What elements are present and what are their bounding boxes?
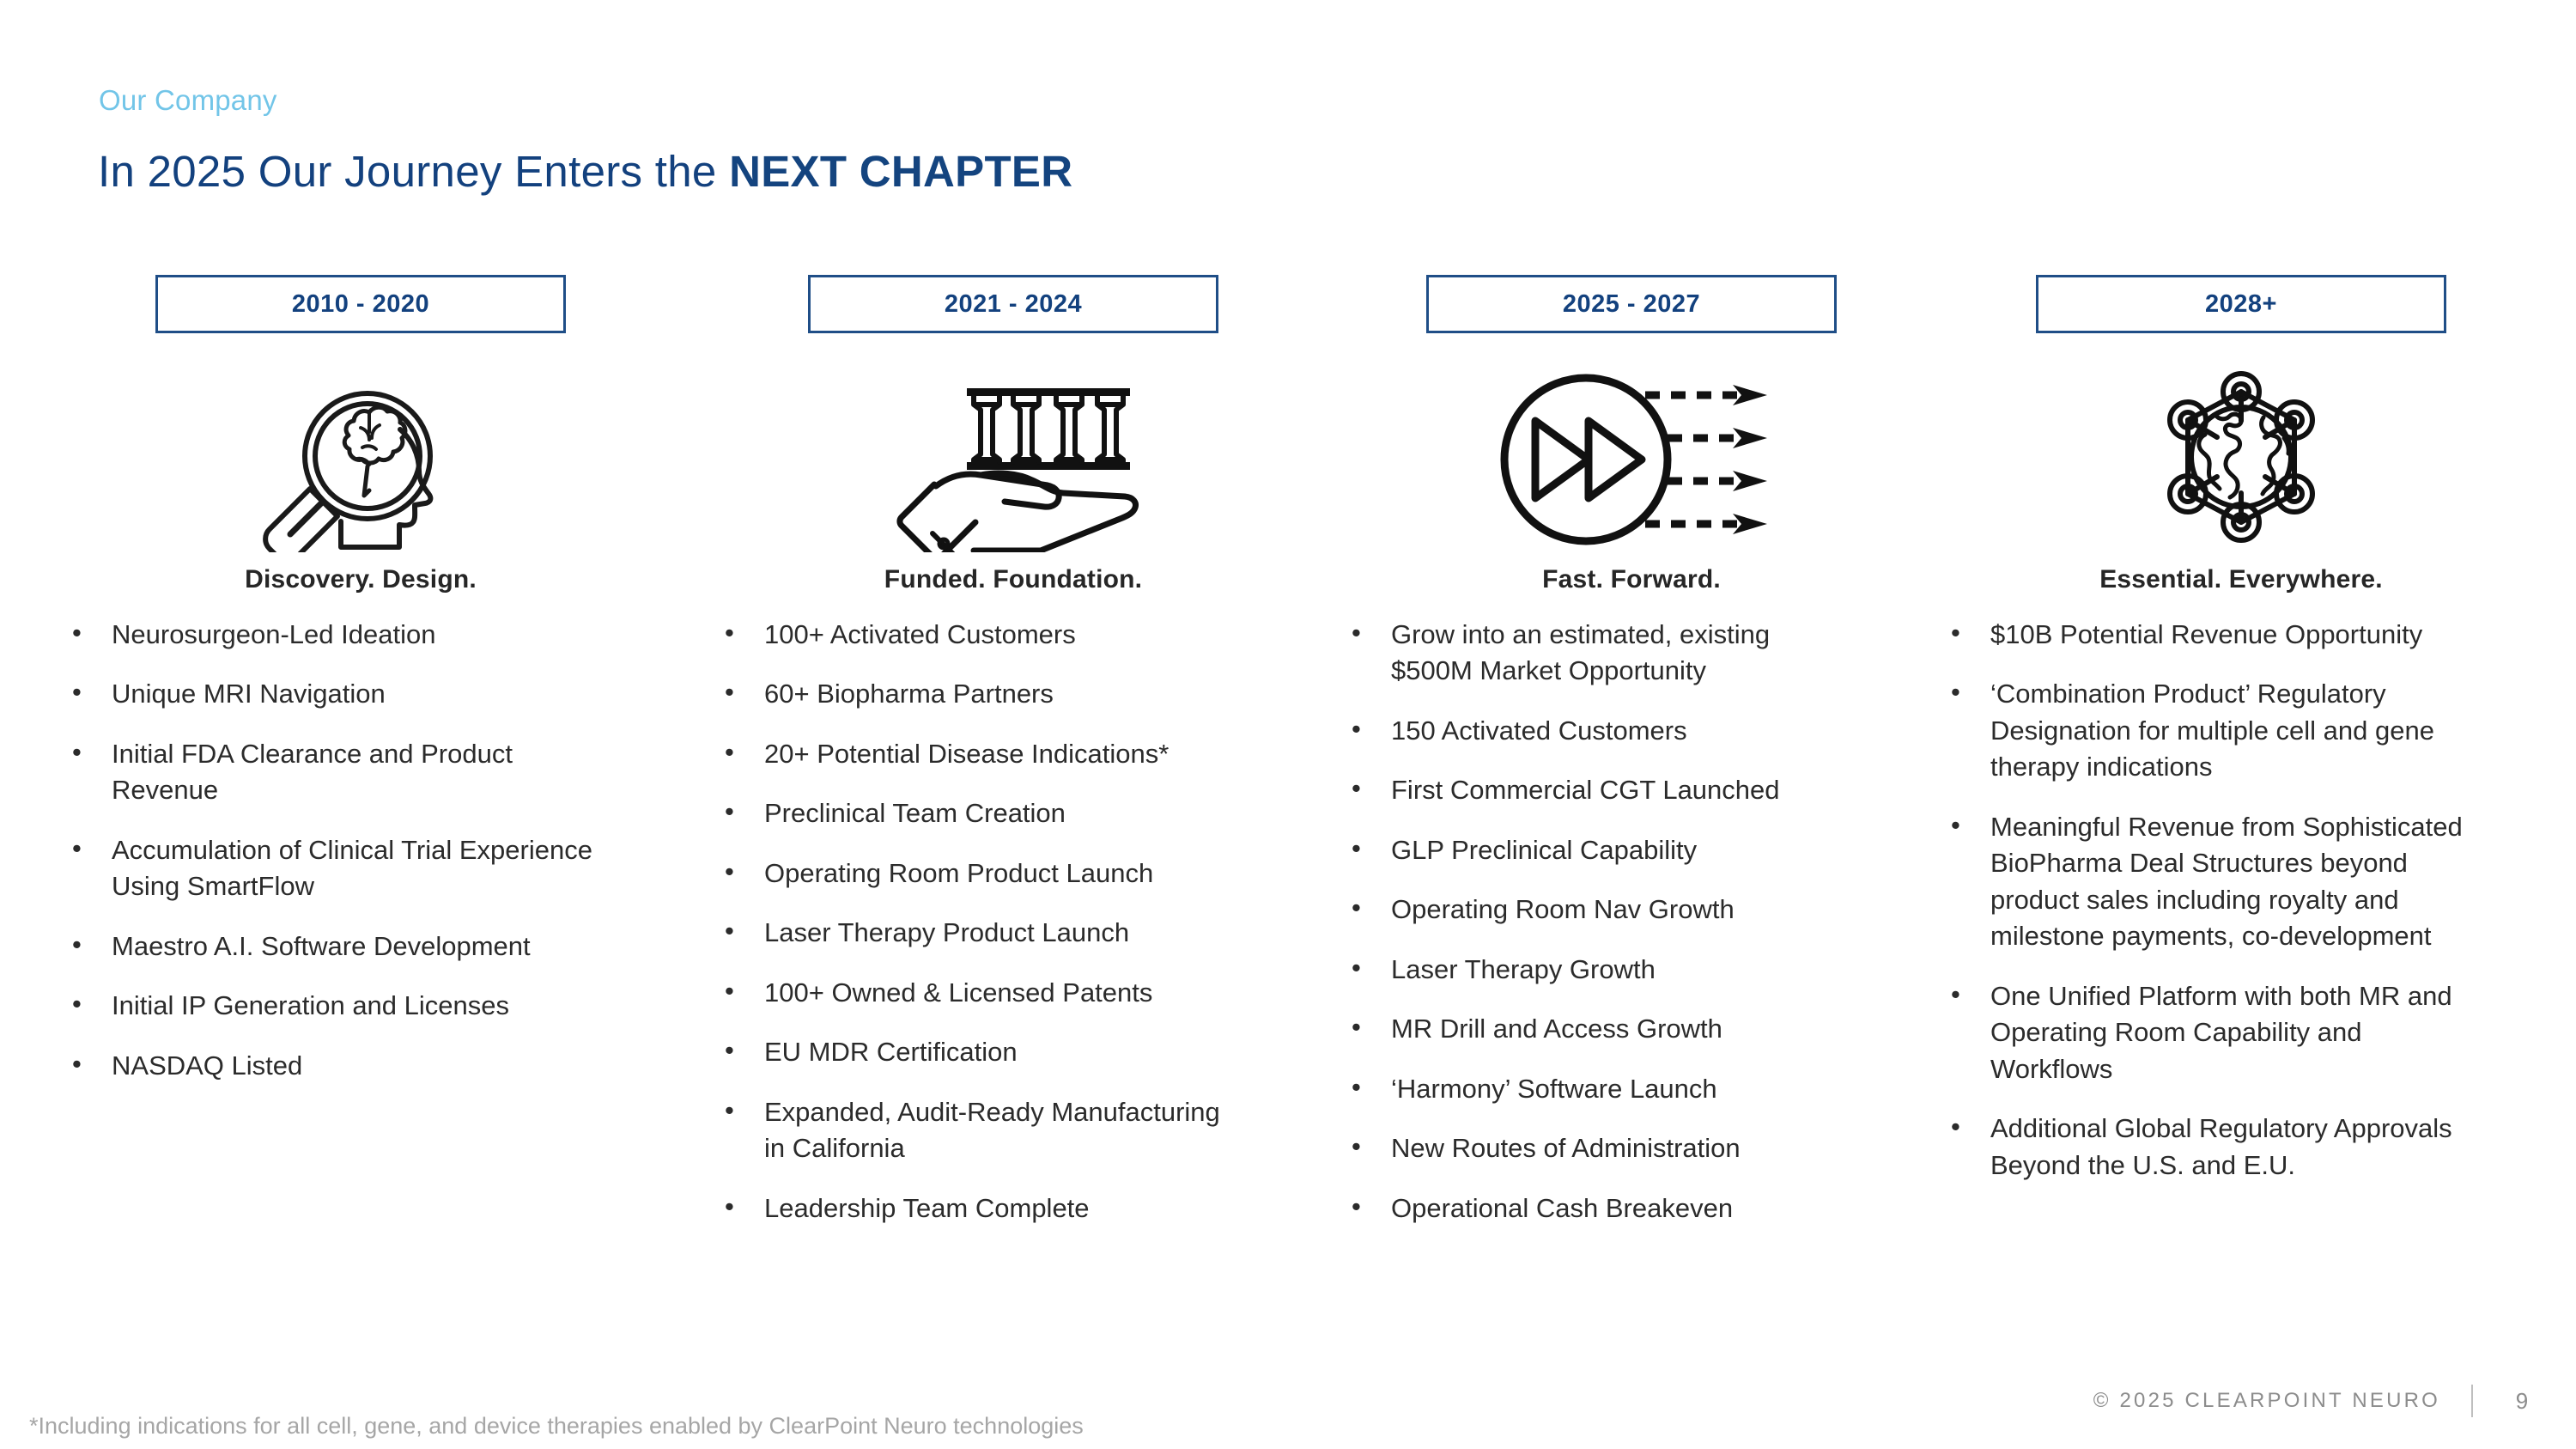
list-item: Expanded, Audit-Ready Manufacturing in C… <box>713 1094 1245 1167</box>
page-number: 9 <box>2509 1388 2535 1415</box>
timeline-column-2010-2020: 2010 - 2020 Discovery. Design. Neurosur <box>52 275 670 1107</box>
list-item: EU MDR Certification <box>713 1034 1245 1070</box>
era-box: 2028+ <box>2036 275 2446 333</box>
list-item: MR Drill and Access Growth <box>1340 1011 1838 1047</box>
list-item: Initial FDA Clearance and Product Revenu… <box>60 736 618 809</box>
list-item: 100+ Owned & Licensed Patents <box>713 975 1245 1011</box>
list-item: Laser Therapy Product Launch <box>713 915 1245 951</box>
era-label: 2028+ <box>2205 290 2277 319</box>
era-label: 2021 - 2024 <box>945 290 1082 319</box>
list-item: GLP Preclinical Capability <box>1340 832 1838 868</box>
global-network-globe-icon <box>1932 361 2550 558</box>
bullet-list: $10B Potential Revenue Opportunity ‘Comb… <box>1939 617 2488 1184</box>
page-title: In 2025 Our Journey Enters the NEXT CHAP… <box>98 146 1072 197</box>
eyebrow-label: Our Company <box>99 84 277 117</box>
page-title-emphasis: NEXT CHAPTER <box>729 147 1072 196</box>
list-item: One Unified Platform with both MR and Op… <box>1939 978 2488 1087</box>
list-item: Accumulation of Clinical Trial Experienc… <box>60 832 618 905</box>
era-box: 2021 - 2024 <box>808 275 1218 333</box>
bullet-list: 100+ Activated Customers 60+ Biopharma P… <box>713 617 1245 1227</box>
magnifier-brain-head-icon <box>52 361 670 558</box>
list-item: ‘Combination Product’ Regulatory Designa… <box>1939 676 2488 785</box>
tagline: Discovery. Design. <box>52 565 670 594</box>
timeline-column-2028-plus: 2028+ <box>1932 275 2550 1207</box>
list-item: 150 Activated Customers <box>1340 713 1838 749</box>
list-item: 60+ Biopharma Partners <box>713 676 1245 712</box>
list-item: New Routes of Administration <box>1340 1130 1838 1166</box>
list-item: NASDAQ Listed <box>60 1048 618 1084</box>
timeline-column-2021-2024: 2021 - 2024 <box>704 275 1322 1250</box>
list-item: Operating Room Product Launch <box>713 855 1245 892</box>
list-item: Laser Therapy Growth <box>1340 952 1838 988</box>
footer-meta: © 2025 CLEARPOINT NEURO 9 <box>2093 1385 2535 1417</box>
timeline-columns: 2010 - 2020 Discovery. Design. Neurosur <box>0 275 2576 1314</box>
footnote: *Including indications for all cell, gen… <box>29 1413 1084 1440</box>
list-item: 20+ Potential Disease Indications* <box>713 736 1245 772</box>
list-item: Grow into an estimated, existing $500M M… <box>1340 617 1838 690</box>
list-item: Initial IP Generation and Licenses <box>60 988 618 1024</box>
list-item: Operating Room Nav Growth <box>1340 892 1838 928</box>
era-box: 2010 - 2020 <box>155 275 566 333</box>
list-item: 100+ Activated Customers <box>713 617 1245 653</box>
list-item: Neurosurgeon-Led Ideation <box>60 617 618 653</box>
list-item: ‘Harmony’ Software Launch <box>1340 1071 1838 1107</box>
list-item: First Commercial CGT Launched <box>1340 772 1838 808</box>
tagline: Fast. Forward. <box>1322 565 1941 594</box>
era-label: 2025 - 2027 <box>1563 290 1700 319</box>
footer-divider <box>2471 1385 2473 1417</box>
tagline: Essential. Everywhere. <box>1932 565 2550 594</box>
copyright-label: © 2025 CLEARPOINT NEURO <box>2093 1389 2440 1413</box>
bullet-list: Grow into an estimated, existing $500M M… <box>1340 617 1838 1227</box>
list-item: Maestro A.I. Software Development <box>60 928 618 965</box>
fast-forward-arrows-icon <box>1322 361 1941 558</box>
timeline-column-2025-2027: 2025 - 2027 Fast <box>1322 275 1941 1250</box>
era-box: 2025 - 2027 <box>1426 275 1837 333</box>
era-label: 2010 - 2020 <box>292 290 429 319</box>
hand-holding-institution-icon <box>704 361 1322 558</box>
list-item: Operational Cash Breakeven <box>1340 1190 1838 1227</box>
bullet-list: Neurosurgeon-Led Ideation Unique MRI Nav… <box>60 617 618 1084</box>
page-title-regular: In 2025 Our Journey Enters the <box>98 147 729 196</box>
list-item: Preclinical Team Creation <box>713 795 1245 831</box>
list-item: Additional Global Regulatory Approvals B… <box>1939 1111 2488 1184</box>
list-item: $10B Potential Revenue Opportunity <box>1939 617 2488 653</box>
list-item: Meaningful Revenue from Sophisticated Bi… <box>1939 809 2488 955</box>
list-item: Leadership Team Complete <box>713 1190 1245 1227</box>
tagline: Funded. Foundation. <box>704 565 1322 594</box>
list-item: Unique MRI Navigation <box>60 676 618 712</box>
